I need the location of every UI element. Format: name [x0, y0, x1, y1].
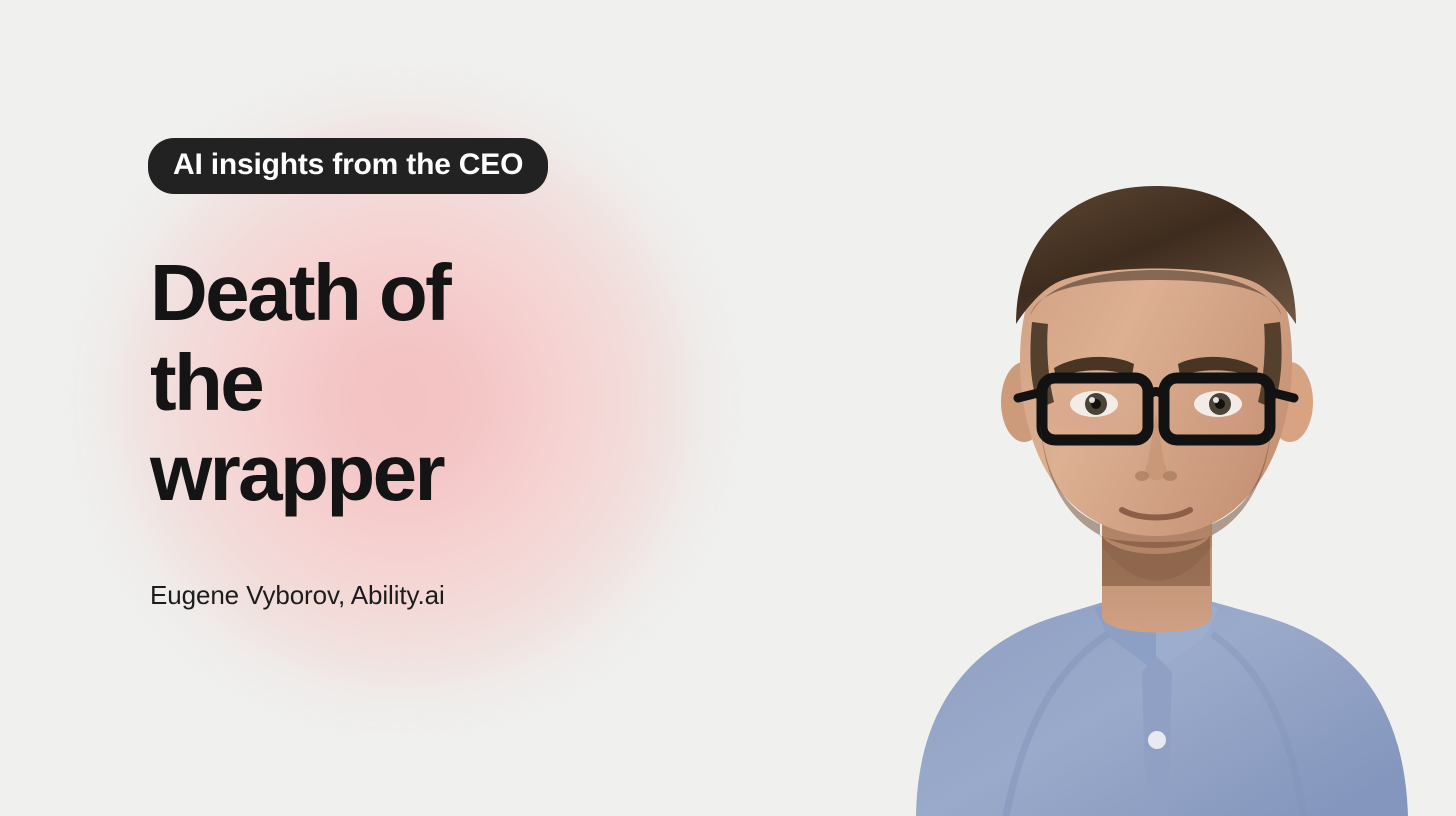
portrait-photo — [856, 116, 1456, 816]
neck — [1102, 508, 1212, 633]
face — [1020, 208, 1292, 536]
nose — [1135, 412, 1177, 481]
eyebrows — [1054, 357, 1258, 378]
ears — [1001, 362, 1313, 442]
speaker-byline: Eugene Vyborov, Ability.ai — [150, 580, 788, 611]
eyes — [1070, 391, 1242, 417]
eyebrow-badge: AI insights from the CEO — [148, 138, 548, 194]
headline-line-3: wrapper — [150, 428, 510, 518]
headline-line-2: the — [150, 338, 510, 428]
headline: Death of the wrapper — [150, 248, 510, 518]
slide-text-column: AI insights from the CEO Death of the wr… — [148, 138, 788, 611]
mouth — [1122, 510, 1190, 518]
shirt — [916, 586, 1408, 816]
hair — [1016, 186, 1296, 408]
presentation-slide: AI insights from the CEO Death of the wr… — [0, 0, 1456, 816]
beard — [1040, 422, 1272, 586]
headline-line-1: Death of — [150, 248, 510, 338]
shirt-button — [1148, 731, 1166, 749]
glasses-icon — [1018, 378, 1294, 440]
